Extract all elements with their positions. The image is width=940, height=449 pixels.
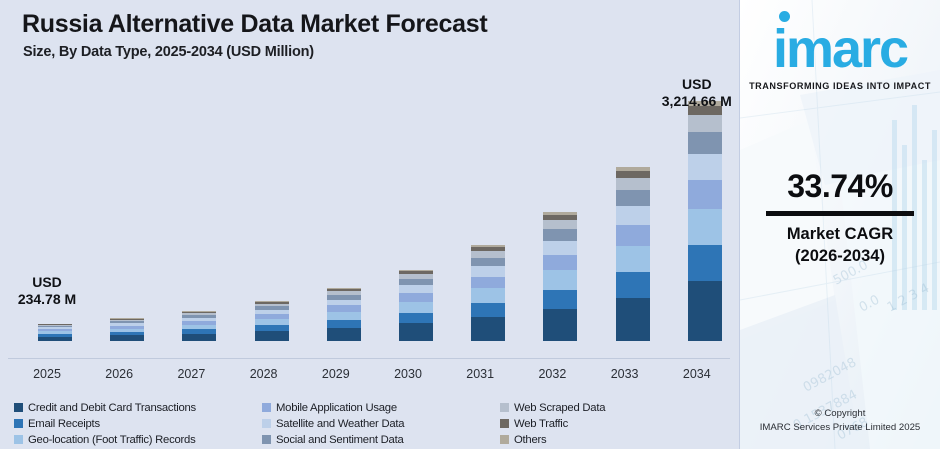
cagr-caption-line2: (2026-2034): [740, 245, 940, 267]
bar-segment[interactable]: [471, 258, 505, 267]
legend-label: Credit and Debit Card Transactions: [28, 402, 196, 414]
x-axis-label-2028: 2028: [229, 367, 299, 381]
legend-item[interactable]: Email Receipts: [14, 416, 262, 431]
x-axis-label-2029: 2029: [301, 367, 371, 381]
legend-item[interactable]: Others: [500, 432, 730, 447]
value-annotation-currency: USD: [642, 76, 752, 93]
bar-segment[interactable]: [399, 285, 433, 293]
x-axis-label-2034: 2034: [662, 367, 732, 381]
bar-segment[interactable]: [543, 229, 577, 241]
bar-segment[interactable]: [543, 309, 577, 341]
page-title: Russia Alternative Data Market Forecast: [22, 10, 487, 39]
legend-item[interactable]: Satellite and Weather Data: [262, 416, 500, 431]
bar-segment[interactable]: [471, 266, 505, 277]
bar-segment[interactable]: [543, 241, 577, 255]
bar-segment[interactable]: [110, 335, 144, 341]
bar-segment[interactable]: [543, 255, 577, 270]
bar-group-2034[interactable]: [688, 101, 722, 341]
bar-group-2030[interactable]: [399, 270, 433, 341]
bar-segment[interactable]: [543, 270, 577, 289]
bar-segment[interactable]: [688, 245, 722, 281]
bar-segment[interactable]: [471, 303, 505, 317]
legend-swatch-icon: [500, 435, 509, 444]
brand-panel: 500.0 0.0 1 2 3 4 0982048 0 1537884 0768…: [740, 0, 940, 449]
copyright-line-1: © Copyright: [740, 407, 940, 421]
bar-segment[interactable]: [471, 317, 505, 341]
cagr-caption-line1: Market CAGR: [740, 223, 940, 245]
bar-segment[interactable]: [616, 178, 650, 190]
bar-segment[interactable]: [616, 246, 650, 272]
x-axis-label-2026: 2026: [84, 367, 154, 381]
value-annotation-amount: 3,214.66 M: [642, 93, 752, 110]
x-axis-line: [8, 358, 730, 359]
bar-segment[interactable]: [543, 290, 577, 309]
legend-label: Social and Sentiment Data: [276, 434, 404, 446]
legend-label: Satellite and Weather Data: [276, 418, 404, 430]
legend-swatch-icon: [262, 403, 271, 412]
x-axis-label-2031: 2031: [445, 367, 515, 381]
bar-group-2033[interactable]: [616, 167, 650, 341]
value-annotation-currency: USD: [0, 274, 102, 291]
bar-segment[interactable]: [327, 320, 361, 328]
bar-segment[interactable]: [471, 251, 505, 258]
bar-segment[interactable]: [471, 288, 505, 302]
legend-item[interactable]: Web Traffic: [500, 416, 730, 431]
copyright-line-2: IMARC Services Private Limited 2025: [740, 421, 940, 435]
legend-item[interactable]: Social and Sentiment Data: [262, 432, 500, 447]
bar-segment[interactable]: [616, 190, 650, 206]
bar-segment[interactable]: [616, 298, 650, 341]
bar-segment[interactable]: [399, 293, 433, 302]
legend-label: Geo-location (Foot Traffic) Records: [28, 434, 195, 446]
bar-segment[interactable]: [688, 180, 722, 209]
legend-swatch-icon: [262, 435, 271, 444]
bar-segment[interactable]: [38, 337, 72, 341]
bar-segment[interactable]: [688, 281, 722, 341]
legend-label: Web Traffic: [514, 418, 568, 430]
legend-label: Web Scraped Data: [514, 402, 605, 414]
bar-segment[interactable]: [688, 209, 722, 245]
logo-dot-icon: [779, 11, 790, 22]
legend-swatch-icon: [14, 403, 23, 412]
value-annotation: USD3,214.66 M: [642, 76, 752, 109]
legend-label: Mobile Application Usage: [276, 402, 397, 414]
bar-group-2025[interactable]: [38, 323, 72, 341]
bar-segment[interactable]: [616, 206, 650, 225]
cagr-value: 33.74%: [740, 168, 940, 205]
bar-group-2032[interactable]: [543, 212, 577, 341]
bar-segment[interactable]: [688, 115, 722, 132]
chart-legend: Credit and Debit Card TransactionsMobile…: [14, 400, 730, 446]
x-axis-label-2033: 2033: [590, 367, 660, 381]
cagr-block: 33.74% Market CAGR (2026-2034): [740, 168, 940, 268]
bar-segment[interactable]: [399, 313, 433, 324]
x-axis-label-2025: 2025: [12, 367, 82, 381]
page-subtitle: Size, By Data Type, 2025-2034 (USD Milli…: [23, 44, 314, 60]
bar-group-2026[interactable]: [110, 318, 144, 341]
bar-segment[interactable]: [327, 312, 361, 320]
copyright-notice: © Copyright IMARC Services Private Limit…: [740, 407, 940, 435]
legend-swatch-icon: [14, 419, 23, 428]
legend-swatch-icon: [500, 419, 509, 428]
legend-label: Others: [514, 434, 546, 446]
bar-segment[interactable]: [471, 277, 505, 288]
bar-segment[interactable]: [616, 272, 650, 298]
bar-segment[interactable]: [255, 331, 289, 341]
x-axis-label-2030: 2030: [373, 367, 443, 381]
x-axis-label-2027: 2027: [156, 367, 226, 381]
logo-tagline: TRANSFORMING IDEAS INTO IMPACT: [740, 81, 940, 91]
legend-item[interactable]: Mobile Application Usage: [262, 400, 500, 415]
bar-segment[interactable]: [688, 154, 722, 180]
legend-swatch-icon: [262, 419, 271, 428]
legend-swatch-icon: [500, 403, 509, 412]
bar-segment[interactable]: [688, 132, 722, 154]
legend-item[interactable]: Geo-location (Foot Traffic) Records: [14, 432, 262, 447]
bar-segment[interactable]: [399, 302, 433, 313]
logo-wordmark: imarc: [773, 19, 907, 79]
bar-group-2031[interactable]: [471, 245, 505, 341]
forecast-infographic: Russia Alternative Data Market Forecast …: [0, 0, 940, 449]
cagr-divider: [766, 211, 914, 216]
bar-segment[interactable]: [616, 225, 650, 246]
x-axis-label-2032: 2032: [517, 367, 587, 381]
plot-area: [8, 70, 732, 362]
imarc-logo: imarc TRANSFORMING IDEAS INTO IMPACT: [740, 22, 940, 91]
bar-segment[interactable]: [182, 334, 216, 341]
bar-segment[interactable]: [327, 328, 361, 341]
legend-item[interactable]: Credit and Debit Card Transactions: [14, 400, 262, 415]
legend-swatch-icon: [14, 435, 23, 444]
bar-group-2029[interactable]: [327, 288, 361, 341]
bar-group-2028[interactable]: [255, 301, 289, 341]
bar-segment[interactable]: [543, 220, 577, 229]
bar-segment[interactable]: [616, 171, 650, 178]
legend-item[interactable]: Web Scraped Data: [500, 400, 730, 415]
value-annotation: USD234.78 M: [0, 274, 102, 307]
legend-label: Email Receipts: [28, 418, 100, 430]
bar-segment[interactable]: [399, 323, 433, 341]
value-annotation-amount: 234.78 M: [0, 291, 102, 308]
chart-panel: Russia Alternative Data Market Forecast …: [0, 0, 740, 449]
bar-group-2027[interactable]: [182, 311, 216, 341]
